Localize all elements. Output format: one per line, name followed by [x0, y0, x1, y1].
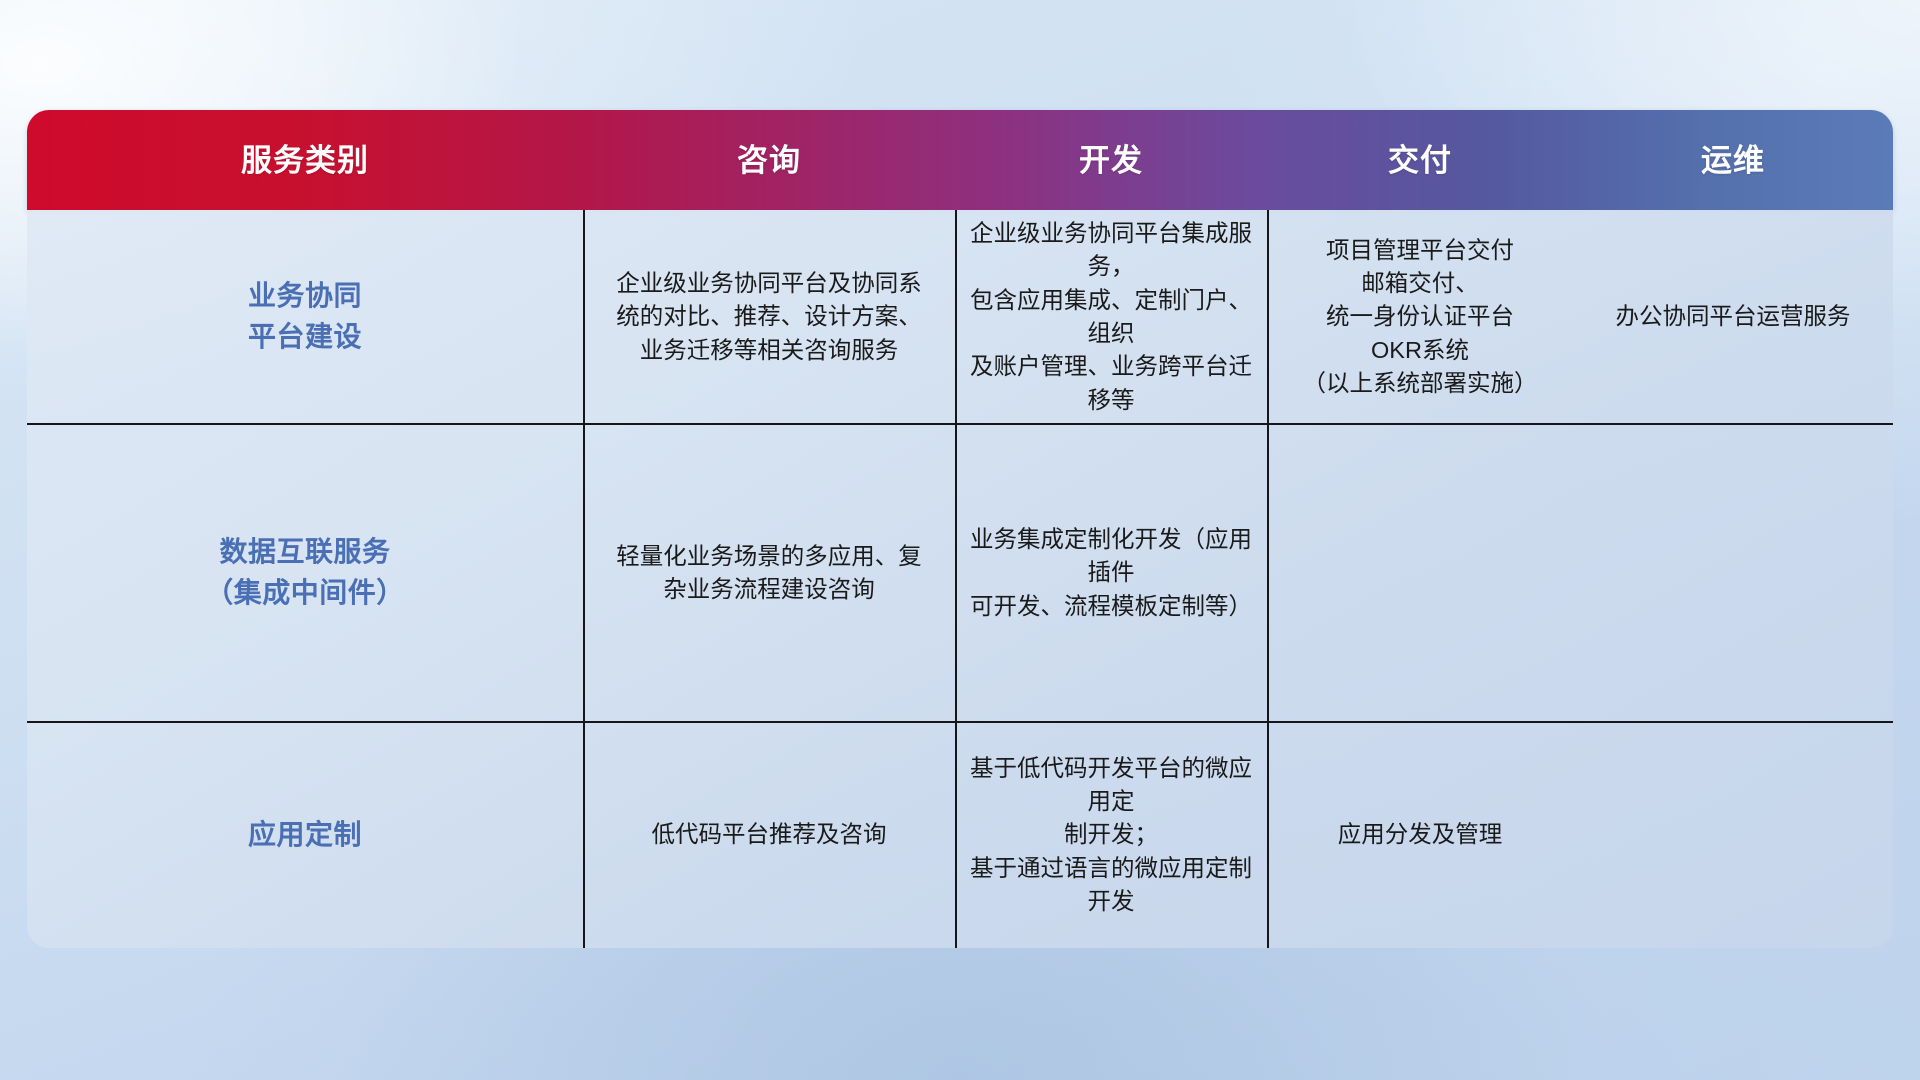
column-header-category: 服务类别	[27, 145, 583, 176]
cell-development-1: 企业级业务协同平台集成服务， 包含应用集成、定制门户、组织 及账户管理、业务跨平…	[955, 210, 1267, 424]
row-divider-2	[27, 721, 1893, 723]
cell-category-3: 应用定制	[27, 722, 583, 948]
cell-consulting-1: 企业级业务协同平台及协同系 统的对比、推荐、设计方案、 业务迁移等相关咨询服务	[583, 210, 955, 424]
table-row: 应用定制 低代码平台推荐及咨询 基于低代码开发平台的微应用定 制开发； 基于通过…	[27, 722, 1893, 948]
cell-operations-2	[1573, 424, 1893, 722]
cell-operations-3	[1573, 722, 1893, 948]
column-header-operations: 运维	[1573, 145, 1893, 176]
cell-delivery-1: 项目管理平台交付 邮箱交付、 统一身份认证平台 OKR系统 （以上系统部署实施）	[1267, 210, 1573, 424]
table-header-row: 服务类别 咨询 开发 交付 运维	[27, 110, 1893, 210]
row-divider-1	[27, 423, 1893, 425]
cell-delivery-3: 应用分发及管理	[1267, 722, 1573, 948]
column-header-development: 开发	[955, 145, 1267, 176]
cell-delivery-2	[1267, 424, 1573, 722]
cell-development-3: 基于低代码开发平台的微应用定 制开发； 基于通过语言的微应用定制开发	[955, 722, 1267, 948]
column-divider-3	[1267, 210, 1269, 948]
cell-category-1: 业务协同 平台建设	[27, 210, 583, 424]
cell-category-2: 数据互联服务 （集成中间件）	[27, 424, 583, 722]
cell-consulting-3: 低代码平台推荐及咨询	[583, 722, 955, 948]
cell-operations-1: 办公协同平台运营服务	[1573, 210, 1893, 424]
cell-development-2: 业务集成定制化开发（应用插件 可开发、流程模板定制等）	[955, 424, 1267, 722]
column-divider-2	[955, 210, 957, 948]
table-row: 数据互联服务 （集成中间件） 轻量化业务场景的多应用、复 杂业务流程建设咨询 业…	[27, 424, 1893, 722]
column-divider-1	[583, 210, 585, 948]
service-matrix-table: 服务类别 咨询 开发 交付 运维 业务协同 平台建设 企业级业务协同平台及协同系…	[27, 110, 1893, 948]
cell-consulting-2: 轻量化业务场景的多应用、复 杂业务流程建设咨询	[583, 424, 955, 722]
table-row: 业务协同 平台建设 企业级业务协同平台及协同系 统的对比、推荐、设计方案、 业务…	[27, 210, 1893, 424]
column-header-delivery: 交付	[1267, 145, 1573, 176]
table-body: 业务协同 平台建设 企业级业务协同平台及协同系 统的对比、推荐、设计方案、 业务…	[27, 210, 1893, 948]
column-header-consulting: 咨询	[583, 145, 955, 176]
